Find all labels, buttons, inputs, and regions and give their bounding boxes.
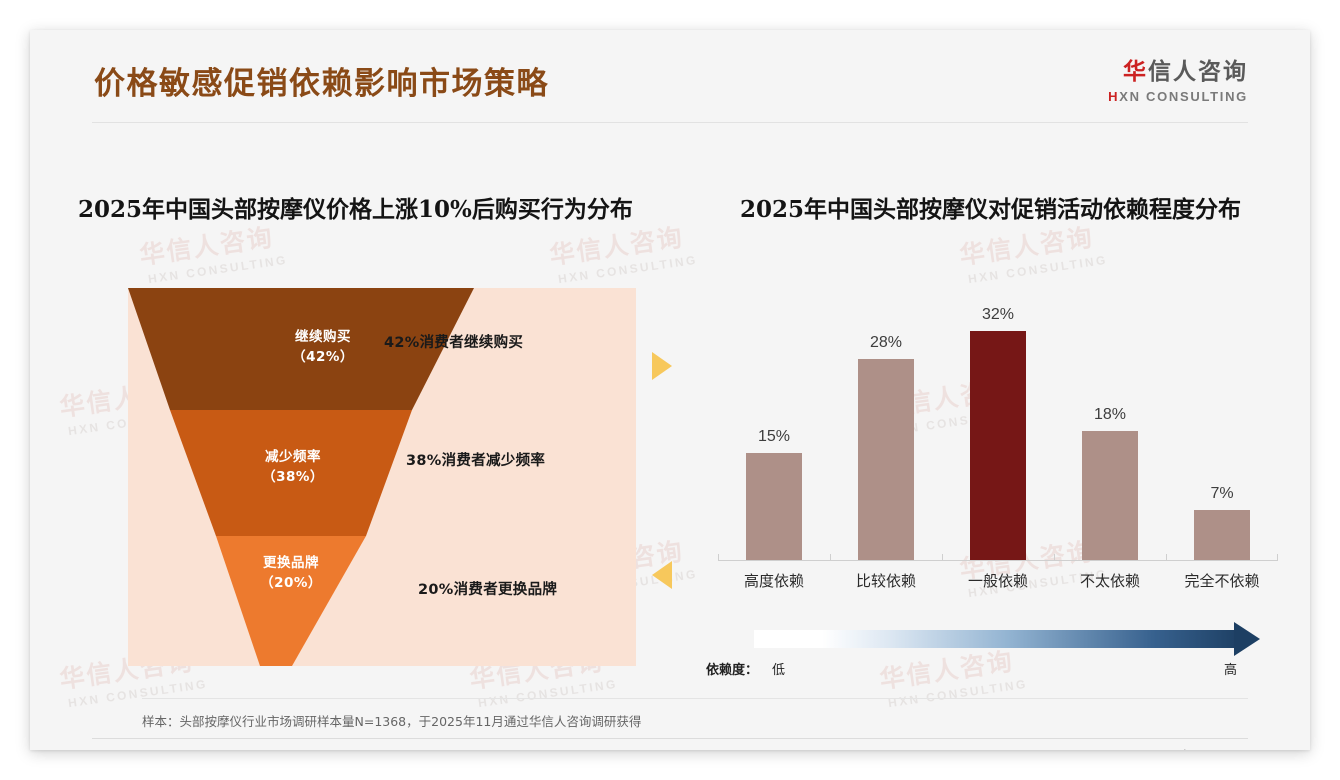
footer-website[interactable]: www.hxrcon.com [1154, 748, 1248, 750]
funnel-annotation-3: 20%消费者更换品牌 [418, 578, 557, 599]
axis-tick [830, 554, 831, 561]
bar-value-label: 32% [982, 306, 1014, 324]
funnel-stage-2-label: 减少频率 [265, 449, 321, 465]
funnel-stage-2-value: （38%） [262, 469, 324, 485]
left-chart-subtitle: 2025年中国头部按摩仪价格上涨10%后购买行为分布 [78, 190, 633, 224]
dependency-gradient-legend: 依赖度： 低 高 [706, 626, 1278, 678]
bar-rect-highlighted[interactable] [970, 331, 1026, 560]
bar-column[interactable]: 18% [1054, 406, 1166, 560]
bar-plot-area: 15% 28% 32% 18% 7% [718, 302, 1278, 560]
bar-rect[interactable] [1082, 431, 1138, 560]
footnote-divider [142, 698, 1248, 699]
watermark-en: HXN CONSULTING [887, 677, 1028, 710]
axis-tick [1166, 554, 1167, 561]
bar-column[interactable]: 7% [1166, 485, 1278, 560]
x-axis-line [718, 560, 1278, 561]
right-chart-subtitle: 2025年中国头部按摩仪对促销活动依赖程度分布 [740, 190, 1241, 224]
logo-en-first-char: H [1108, 89, 1119, 104]
funnel-chart: 继续购买 （42%） 减少频率 （38%） 更换品牌 （20%） 42%消费者继… [128, 288, 636, 666]
triangle-right-icon [652, 352, 672, 380]
bar-rect[interactable] [858, 359, 914, 560]
axis-tick [1277, 554, 1278, 561]
logo-cn-rest: 信人咨询 [1148, 59, 1248, 85]
bar-rect[interactable] [1194, 510, 1250, 560]
funnel-stage-3-label: 更换品牌 [263, 555, 319, 571]
gradient-bar [754, 630, 1242, 648]
bar-value-label: 15% [758, 428, 790, 446]
logo-en-rest: XN CONSULTING [1119, 89, 1248, 104]
x-axis-category-label: 完全不依赖 [1166, 570, 1278, 591]
page-title: 价格敏感促销依赖影响市场策略 [94, 58, 549, 103]
axis-tick [718, 554, 719, 561]
legend-low-label: 低 [772, 659, 785, 678]
legend-title: 依赖度： [706, 659, 758, 678]
slide-card: 华信人咨询HXN CONSULTING 华信人咨询HXN CONSULTING … [30, 30, 1310, 750]
watermark-en: HXN CONSULTING [477, 677, 618, 710]
watermark-cn: 华信人咨询 [957, 216, 1106, 272]
triangle-left-icon [652, 561, 672, 589]
legend-high-label: 高 [1224, 659, 1237, 678]
source-footnote: 样本：头部按摩仪行业市场调研样本量N=1368，于2025年11月通过华信人咨询… [142, 711, 641, 730]
watermark-cn: 华信人咨询 [137, 216, 286, 272]
brand-logo: 华信人咨询 HXN CONSULTING [1108, 52, 1248, 104]
logo-cn-first-char: 华 [1123, 59, 1148, 85]
bar-value-label: 28% [870, 334, 902, 352]
bar-value-label: 18% [1094, 406, 1126, 424]
funnel-stage-1-label: 继续购买 [295, 329, 351, 345]
header-divider [92, 122, 1248, 123]
funnel-annotation-2: 38%消费者减少频率 [406, 449, 545, 470]
x-axis-category-label: 一般依赖 [942, 570, 1054, 591]
bar-column[interactable]: 28% [830, 334, 942, 560]
footer-copyright: ©2026.1 HXR华信人咨询 [92, 748, 241, 750]
x-axis-category-label: 比较依赖 [830, 570, 942, 591]
gradient-arrow-head-icon [1234, 622, 1260, 656]
bar-value-label: 7% [1210, 485, 1233, 503]
slide-header: 价格敏感促销依赖影响市场策略 华信人咨询 HXN CONSULTING [30, 30, 1310, 122]
logo-english-text: HXN CONSULTING [1108, 89, 1248, 104]
axis-tick [942, 554, 943, 561]
x-axis-category-label: 高度依赖 [718, 570, 830, 591]
funnel-stage-1-value: （42%） [292, 349, 354, 365]
footer-divider [92, 738, 1248, 739]
bar-column[interactable]: 15% [718, 428, 830, 561]
x-axis-category-label: 不太依赖 [1054, 570, 1166, 591]
bar-column[interactable]: 32% [942, 306, 1054, 560]
watermark-en: HXN CONSULTING [147, 253, 288, 286]
watermark-en: HXN CONSULTING [557, 253, 698, 286]
dependency-bar-chart: 15% 28% 32% 18% 7% [718, 302, 1278, 602]
watermark-cn: 华信人咨询 [547, 216, 696, 272]
watermark-en: HXN CONSULTING [967, 253, 1108, 286]
funnel-annotation-1: 42%消费者继续购买 [384, 331, 523, 352]
funnel-stage-3-value: （20%） [260, 575, 322, 591]
axis-tick [1054, 554, 1055, 561]
logo-chinese-text: 华信人咨询 [1108, 52, 1248, 86]
watermark-en: HXN CONSULTING [67, 677, 208, 710]
bar-rect[interactable] [746, 453, 802, 561]
